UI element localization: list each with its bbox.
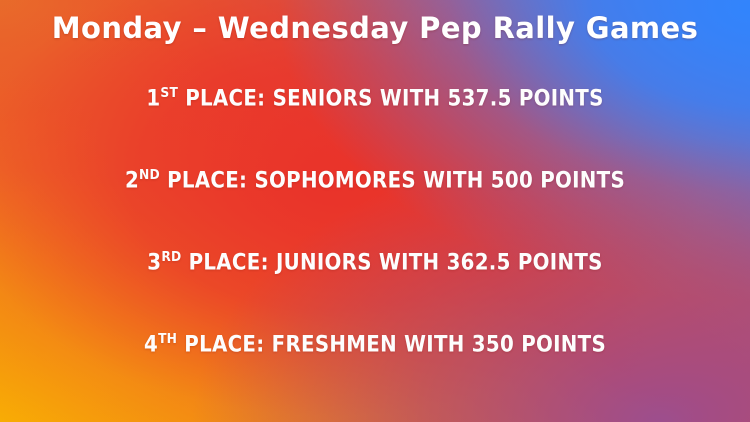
rank-number-4: 4	[144, 332, 158, 357]
rank-suffix-3: RD	[161, 249, 181, 265]
slide-content: Monday – Wednesday Pep Rally Games 1ST P…	[0, 0, 750, 422]
result-row-3: 3RD PLACE: JUNIORS WITH 362.5 POINTS	[147, 243, 602, 271]
result-row-4: 4TH PLACE: FRESHMEN WITH 350 POINTS	[144, 325, 606, 353]
result-row-1: 1ST PLACE: SENIORS WITH 537.5 POINTS	[146, 79, 603, 107]
rank-suffix-4: TH	[158, 331, 177, 347]
result-row-2: 2ND PLACE: SOPHOMORES WITH 500 POINTS	[125, 161, 625, 189]
slide-title: Monday – Wednesday Pep Rally Games	[52, 11, 699, 45]
results-list: 1ST PLACE: SENIORS WITH 537.5 POINTS 2ND…	[0, 79, 750, 353]
result-text-1: PLACE: SENIORS WITH 537.5 POINTS	[178, 86, 604, 111]
result-text-4: PLACE: FRESHMEN WITH 350 POINTS	[177, 332, 606, 357]
rank-suffix-2: ND	[139, 167, 160, 183]
pep-rally-results-slide: Monday – Wednesday Pep Rally Games 1ST P…	[0, 0, 750, 422]
result-text-2: PLACE: SOPHOMORES WITH 500 POINTS	[160, 168, 625, 193]
rank-number-2: 2	[125, 168, 139, 193]
rank-suffix-1: ST	[160, 85, 178, 101]
rank-number-1: 1	[146, 86, 160, 111]
rank-number-3: 3	[147, 250, 161, 275]
result-text-3: PLACE: JUNIORS WITH 362.5 POINTS	[181, 250, 602, 275]
